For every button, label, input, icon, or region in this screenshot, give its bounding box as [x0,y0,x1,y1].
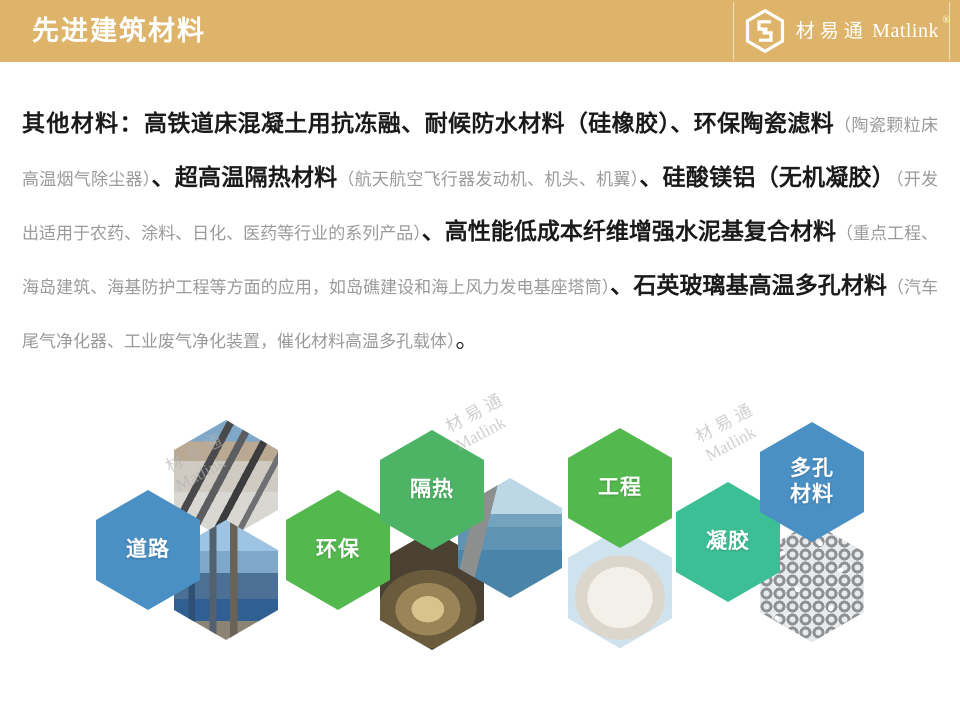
hex-label-engineering-text: 工程 [598,475,642,501]
copy-segment-2: 环保陶瓷滤料 [694,110,834,136]
body-paragraph: 其他材料：高铁道床混凝土用抗冻融、耐候防水材料（硅橡胶）、环保陶瓷滤料（陶瓷颗粒… [22,100,938,370]
paragraph-end-mark: 。 [456,326,479,352]
hex-label-environmental-text: 环保 [316,537,360,563]
logo-wordmark: 材易通 Matlink ® [796,21,939,41]
brand-logo: 材易通 Matlink ® [733,0,950,62]
slide-header-bar: 先进建筑材料 材易通 Matlink ® [0,0,960,62]
copy-segment-10: 、 [422,218,445,244]
hex-label-porous-text: 多孔材料 [790,456,834,508]
copy-segment-1: 、 [670,110,693,136]
logo-en-text: Matlink [872,20,939,42]
copy-segment-7: 、 [639,164,662,190]
logo-cn-text: 材易通 [796,20,868,42]
copy-segment-14: 石英玻璃基高温多孔材料 [633,272,887,298]
honeycomb-diagram: 道路环保隔热工程凝胶多孔材料 [0,400,960,680]
hex-label-insulation-text: 隔热 [410,477,454,503]
hex-label-gel-text: 凝胶 [706,529,750,555]
registered-trademark-icon: ® [942,16,950,26]
copy-segment-13: 、 [610,272,633,298]
copy-segment-8: 硅酸镁铝（无机凝胶） [663,164,895,190]
paragraph-lead: 其他材料： [22,110,144,136]
copy-segment-11: 高性能低成本纤维增强水泥基复合材料 [445,218,836,244]
page-title: 先进建筑材料 [32,15,206,47]
matlink-hexagon-monogram-icon [742,8,788,54]
copy-segment-6: （航天航空飞行器发动机、机头、机翼） [337,170,639,189]
logo-divider-right [949,2,950,60]
slide: 先进建筑材料 材易通 Matlink ® 其他材料：高铁道床混凝土用抗冻融、耐候… [0,0,960,720]
copy-segment-5: 超高温隔热材料 [175,164,338,190]
copy-segment-4: 、 [151,164,174,190]
hex-label-road-text: 道路 [126,537,170,563]
hex-label-engineering: 工程 [568,428,672,548]
hex-label-environmental: 环保 [286,490,390,610]
copy-segment-0: 高铁道床混凝土用抗冻融、耐候防水材料（硅橡胶） [144,110,670,136]
logo-divider-left [733,2,734,60]
